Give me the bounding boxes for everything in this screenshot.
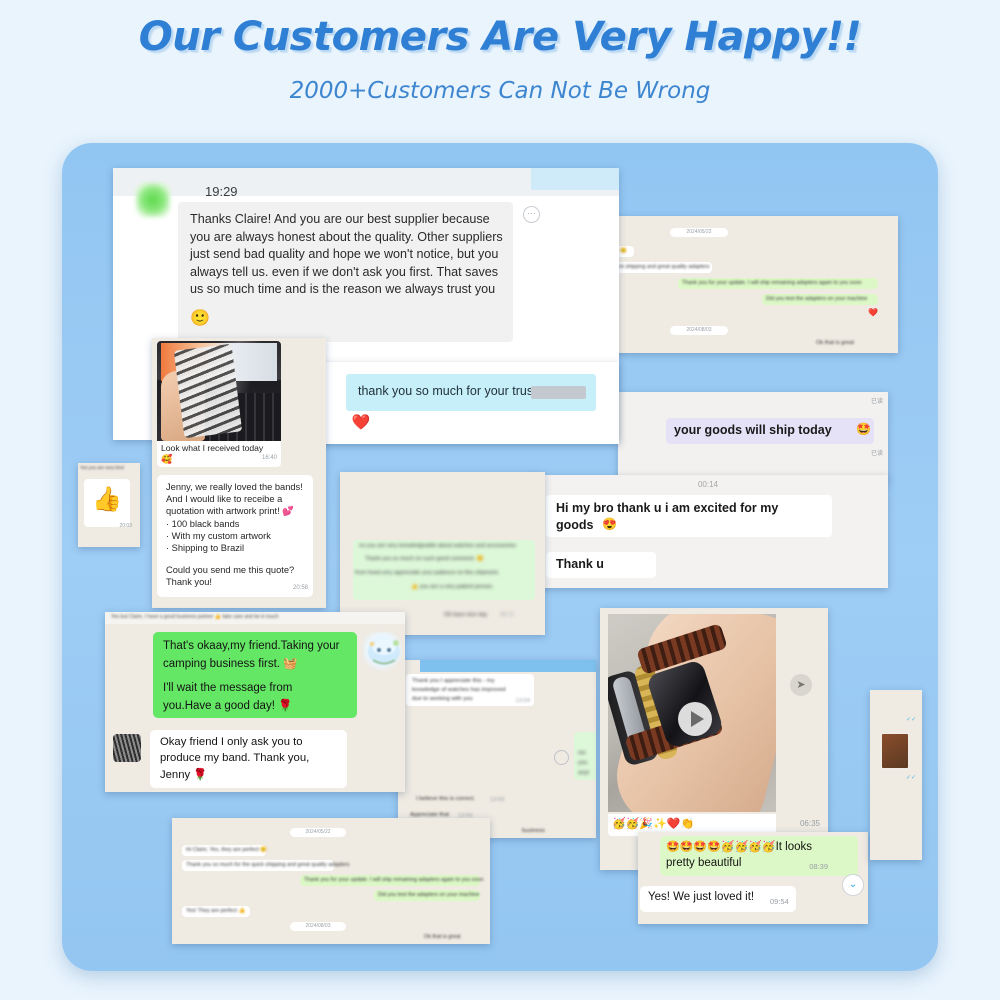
chat-bubble-out: Did you test the adapters on your machin… [762, 294, 878, 305]
chat-screenshot-thumbs-up[interactable]: Yes you are very kind 👍 20:03 [78, 463, 140, 547]
bubble-line: · Shipping to Brazil [166, 543, 244, 553]
emoji-reactions: 🥳🥳🎉✨❤️👏 [612, 817, 694, 830]
date-badge: 2024/05/22 [670, 228, 728, 237]
scroll-down-icon[interactable]: ⌄ [842, 874, 864, 896]
footer-strip-text: Yes but Claire, I have a good business p… [111, 614, 279, 620]
emoji-reactions: 🤩🤩🤩🤩🥳🥳🥳🥳 [666, 841, 776, 853]
chat-bubble-out: Did you test the adapters on your machin… [374, 890, 480, 901]
bubble-line: Thank you I appreciate this - my [412, 678, 494, 684]
bubble-line: Jenny 🌹 [160, 768, 207, 781]
date-badge: 2024/08/03 [290, 922, 346, 931]
forward-icon[interactable]: ➤ [790, 674, 812, 696]
time-divider: 00:14 [528, 480, 888, 489]
page-header: Our Customers Are Very Happy!! 2000+Cust… [0, 0, 1000, 130]
read-mark: 已读 [871, 448, 883, 457]
watch-band-product [174, 344, 242, 438]
bubble-line: Jenny, we really loved the bands! [166, 482, 303, 492]
bubble-line: Could you send me this quote? [166, 565, 294, 575]
bubble-text: Thank you for your update. I will ship r… [682, 280, 862, 286]
bubble-text: Thank you for your update. I will ship r… [304, 877, 484, 883]
bubble-text: your goods will ship today [674, 423, 832, 437]
bubble-text: Hi Claire, Yes, they are perfect 😊 [186, 847, 267, 853]
bubble-line: due to working with you [412, 696, 473, 702]
bubble-text: Did you test the adapters on your machin… [766, 296, 867, 302]
bubble-line: · With my custom artwork [166, 531, 271, 541]
bubble-line: camping business first. 🧺 [163, 656, 297, 670]
timestamp: 06:35 [800, 819, 820, 828]
bubble-line: I believe this is correct. [416, 796, 475, 802]
screenshot-topstrip: Yes but Claire, I have a good business p… [105, 612, 405, 624]
bubble-line: pretty beautiful [666, 857, 741, 869]
avatar [136, 183, 170, 217]
avatar-circle [554, 750, 569, 765]
timestamp: 08:39 [809, 862, 828, 871]
chat-bubble-beautiful-out: 🤩🤩🤩🤩🥳🥳🥳🥳It looks pretty beautiful 08:39 [660, 836, 858, 876]
bubble-text: Thank u [556, 557, 604, 571]
chat-bubble-ship-today: your goods will ship today 🤩 [666, 418, 874, 444]
chat-screenshot-excited[interactable]: 00:14 Hi my bro thank u i am excited for… [528, 475, 888, 588]
bubble-text: 🤩🤩🤩🤩🥳🥳🥳🥳It looks [666, 840, 812, 853]
bubble-line: That's okaay,my friend.Taking your [163, 640, 339, 652]
heart-reaction-icon: ❤️ [868, 308, 878, 317]
bubble-line: from heart,very appreciate your patience… [355, 570, 499, 576]
bubble-line: I'll wait the message from [163, 682, 292, 694]
bubble-text: Thank you so much for the quick shipping… [186, 862, 349, 868]
bubble-line: And I would like to receibe a [166, 494, 282, 504]
bubble-line: · 100 black bands [166, 519, 239, 529]
bubble-line: you [578, 760, 587, 766]
chat-screenshot-blurry-comments[interactable]: no you are very knowledgeable about watc… [340, 472, 545, 635]
bubble-text: thank you so much for your trust [358, 384, 537, 398]
chat-bubble-testimonial: Thanks Claire! And you are our best supp… [178, 202, 513, 342]
chat-bubble-camping-in: Okay friend I only ask you to produce my… [150, 730, 347, 788]
bubble-line: sui [578, 750, 585, 756]
date-badge: 2024/08/03 [670, 326, 728, 335]
bubble-text: Ok that is great [816, 340, 854, 346]
chat-header-text: Yes you are very kind [80, 465, 124, 470]
chat-bubble-thank-trust: thank you so much for your trust [346, 374, 596, 411]
timestamp: 20:58 [293, 585, 308, 591]
chat-bubble-thanku: Thank u [546, 552, 656, 578]
chat-bubble-camping-out: That's okaay,my friend.Taking your campi… [153, 632, 357, 718]
bubble-line: produce my band. Thank you, [160, 752, 309, 764]
chat-screenshot-edge-sliver[interactable]: ✓✓ ✓✓ [870, 690, 922, 860]
timestamp: 09:54 [770, 897, 789, 906]
bubble-line: anyt [578, 770, 589, 776]
bubble-line: 👍 you are a very patient person. [411, 584, 494, 590]
emoji-icon: 😍 [602, 517, 617, 531]
received-bands-photo[interactable] [157, 341, 281, 441]
more-options-icon[interactable]: ⋯ [523, 206, 540, 223]
chat-screenshot-adapters-bottom[interactable]: 2024/05/22 Hi Claire, Yes, they are perf… [172, 818, 490, 944]
timestamp: 13:55 [490, 797, 505, 803]
bubble-line: It looks [776, 841, 812, 853]
laptop-photo-content [157, 341, 281, 441]
wrist-watch-photo[interactable] [608, 614, 776, 812]
chat-bubble-excited: Hi my bro thank u i am excited for my go… [546, 495, 832, 537]
bubble-line: knowledge of watches has improved [412, 687, 505, 693]
photo-thumbnail[interactable] [880, 732, 910, 770]
timestamp: 16:40 [262, 455, 277, 461]
chat-screenshot-watch-video[interactable]: ➤ 🥳🥳🎉✨❤️👏 06:35 [600, 608, 828, 870]
bubble-line: you.Have a good day! 🌹 [163, 698, 292, 712]
photo-caption-box: Look what I received today 🥰 16:40 [157, 441, 281, 467]
bubble-text: Yes! We just loved it! [648, 891, 754, 903]
timestamp: 13:54 [515, 698, 530, 704]
bubble-text: Thanks Claire! And you are our best supp… [190, 211, 505, 299]
chat-screenshot-ship-today[interactable]: 已读 your goods will ship today 🤩 已读 [618, 392, 888, 482]
bubble-text-line2: goods [556, 518, 594, 532]
bubble-text: Ok that is great [424, 934, 461, 940]
read-tick-icon: ✓✓ [906, 716, 916, 723]
bubble-line: quotation with artwork print! 💕 [166, 506, 294, 517]
chat-bubble-in: Yes! They are perfect 👍 [182, 906, 250, 917]
chat-bubble-side-green: sui you anyt [574, 732, 596, 780]
titlebar-highlight [531, 168, 619, 190]
chat-bubble-out: Thank you for your update. I will ship r… [300, 875, 480, 886]
bubble-line: no you are very knowledgeable about watc… [359, 543, 516, 549]
chat-screenshot-bands-request[interactable]: Look what I received today 🥰 16:40 Jenny… [152, 338, 326, 608]
chat-screenshot-watch-knowledge[interactable]: Thank you I appreciate this - my knowled… [398, 660, 596, 838]
bubble-text: Did you test the adapters on your machin… [378, 892, 479, 898]
page-subtitle: 2000+Customers Can Not Be Wrong [0, 78, 1000, 104]
redacted-name [531, 386, 586, 399]
bubble-line: Ok have nice day [444, 612, 487, 618]
chat-bubble-in: Thank you so much for the quick shipping… [182, 860, 334, 871]
emoji-icon: 🥰 [161, 454, 172, 465]
chat-bubble-in: Hi Claire, Yes, they are perfect 😊 [182, 845, 266, 856]
bubble-text: Yes! They are perfect 👍 [186, 908, 245, 914]
bubble-line: Thank you so much on such good comment. … [365, 556, 484, 562]
timestamp: 20:71 [500, 612, 514, 618]
screenshot-titlebar [420, 660, 596, 672]
avatar [113, 734, 141, 762]
read-tick-icon: ✓✓ [906, 774, 916, 781]
emoji-icon: 🤩 [856, 422, 871, 436]
emoji-icon: 🙂 [190, 308, 210, 328]
play-button-icon[interactable] [678, 702, 712, 736]
chat-bubble-out: Thank you for your update. I will ship r… [678, 278, 878, 289]
heart-reaction-icon: ❤️ [348, 412, 374, 434]
chat-bubble-knowledge: Thank you I appreciate this - my knowled… [406, 674, 534, 706]
timestamp: 20:03 [119, 523, 132, 529]
bubble-line: business [522, 828, 545, 834]
chat-screenshot-beautiful[interactable]: 🤩🤩🤩🤩🥳🥳🥳🥳It looks pretty beautiful 08:39 … [638, 832, 868, 924]
message-timestamp: 19:29 [205, 184, 238, 199]
bubble-text: Hi my bro thank u i am excited for my [556, 501, 778, 515]
date-badge: 2024/05/22 [290, 828, 346, 837]
page-title: Our Customers Are Very Happy!! [0, 14, 1000, 60]
bubble-line: Thank you! [166, 577, 212, 587]
sticker-svg [363, 632, 405, 672]
read-mark: 已读 [871, 396, 883, 405]
photo-caption: Look what I received today [161, 443, 263, 453]
cartoon-sticker-icon [363, 632, 405, 672]
bubble-line: Okay friend I only ask you to [160, 736, 303, 748]
sticker-thumbs-up-icon: 👍 [84, 479, 130, 527]
chat-bubble-loved-in: Yes! We just loved it! 09:54 [640, 886, 796, 912]
chat-bubble-quotation: Jenny, we really loved the bands! And I … [157, 475, 313, 597]
chat-screenshot-thank-trust[interactable]: thank you so much for your trust ❤️ [318, 362, 619, 444]
chat-screenshot-camping[interactable]: Yes but Claire, I have a good business p… [105, 612, 405, 792]
chat-bubble-group-green: no you are very knowledgeable about watc… [353, 540, 535, 600]
